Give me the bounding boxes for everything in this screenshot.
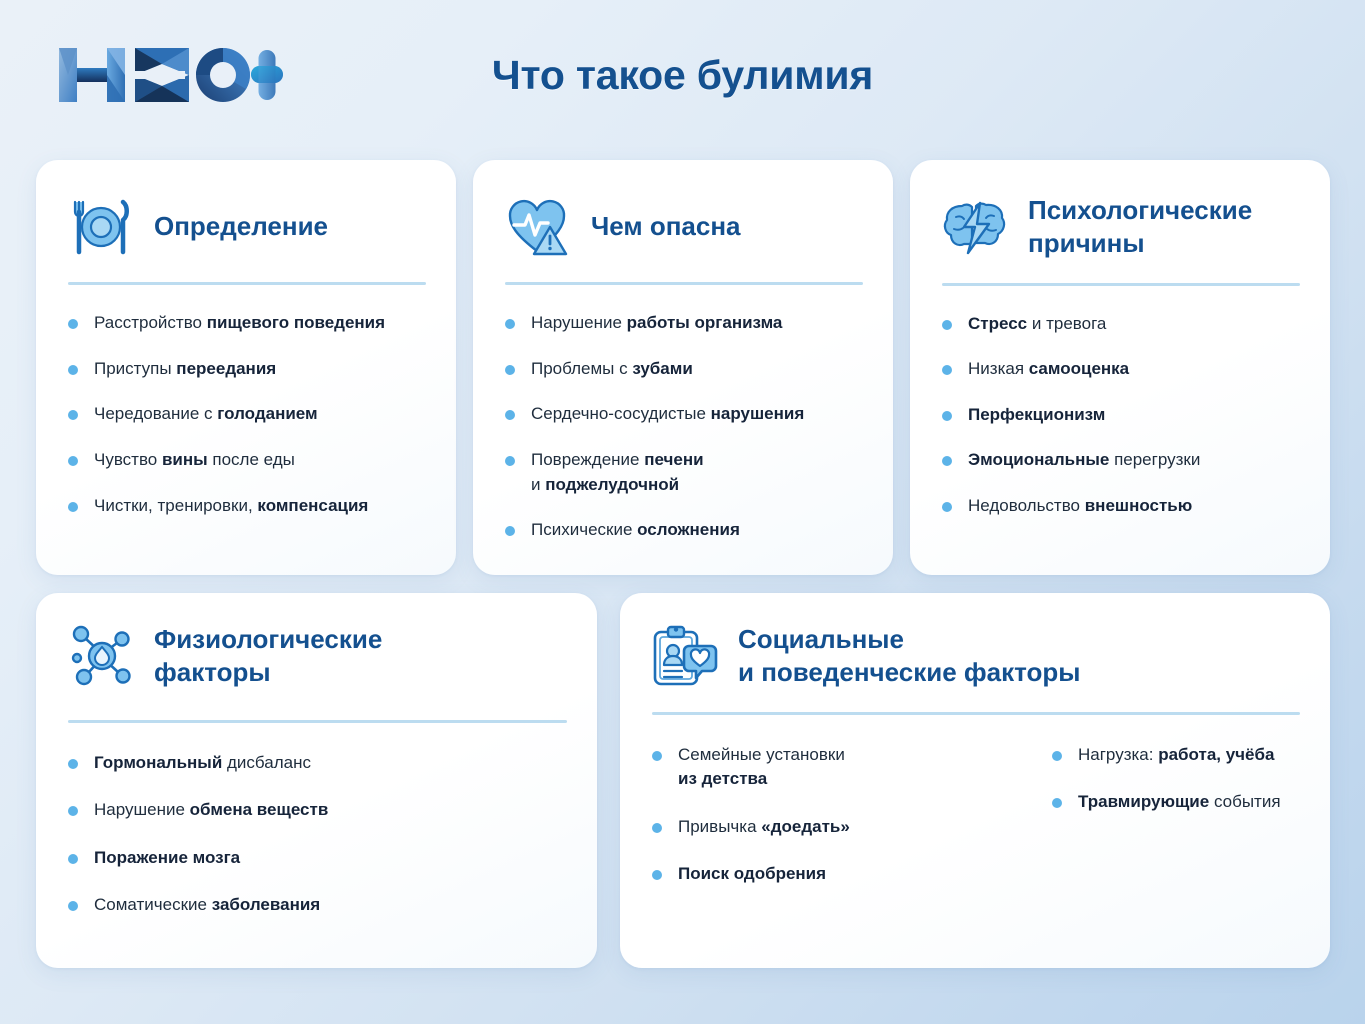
card-header: Психологическиепричины: [910, 160, 1330, 261]
bullet-list-left: Семейные установкииз детстваПривычка «до…: [652, 743, 1022, 911]
emphasis: нарушения: [711, 404, 805, 423]
card-definition: Определение Расстройство пищевого поведе…: [36, 160, 456, 575]
bullet-list: Стресс и тревогаНизкая самооценкаПерфекц…: [910, 286, 1330, 519]
card-header: Физиологическиефакторы: [36, 593, 597, 690]
bullet-list-right: Нагрузка: работа, учёбаТравмирующие собы…: [1052, 743, 1322, 911]
list-item: Нарушение обмена веществ: [68, 798, 571, 823]
page-header: Что такое булимия: [0, 0, 1365, 140]
emphasis: обмена веществ: [190, 800, 329, 819]
list-item: Психические осложнения: [505, 518, 867, 543]
list-item: Чувство вины после еды: [68, 448, 430, 473]
emphasis: внешностью: [1085, 496, 1193, 515]
plate-fork-knife-icon: [68, 194, 134, 260]
emphasis: голоданием: [217, 404, 317, 423]
list-item: Травмирующие события: [1052, 790, 1322, 815]
heart-pulse-warning-icon: [505, 194, 571, 260]
emphasis: вины: [162, 450, 208, 469]
emphasis: поджелудочной: [545, 475, 679, 494]
emphasis: Гормональный: [94, 753, 222, 772]
card-social: Социальныеи поведенческие факторы Семейн…: [620, 593, 1330, 968]
card-header: Чем опасна: [473, 160, 893, 260]
emphasis: заболевания: [212, 895, 321, 914]
card-title: Социальныеи поведенческие факторы: [738, 623, 1081, 690]
card-title: Физиологическиефакторы: [154, 623, 382, 690]
list-item: Перфекционизм: [942, 403, 1304, 428]
card-psych: Психологическиепричины Стресс и тревогаН…: [910, 160, 1330, 575]
list-item: Проблемы с зубами: [505, 357, 867, 382]
emphasis: зубами: [632, 359, 692, 378]
bullet-list: Расстройство пищевого поведенияПриступы …: [36, 285, 456, 518]
emphasis: пищевого поведения: [207, 313, 385, 332]
bullet-columns: Семейные установкииз детстваПривычка «до…: [620, 715, 1330, 911]
list-item: Чередование с голоданием: [68, 402, 430, 427]
emphasis: работа, учёба: [1158, 745, 1274, 764]
list-item: Низкая самооценка: [942, 357, 1304, 382]
list-item: Повреждение печении поджелудочной: [505, 448, 867, 497]
card-header: Социальныеи поведенческие факторы: [620, 593, 1330, 690]
list-item: Соматические заболевания: [68, 893, 571, 918]
bullet-list: Нарушение работы организмаПроблемы с зуб…: [473, 285, 893, 543]
emphasis: Поиск одобрения: [678, 864, 826, 883]
emphasis: Перфекционизм: [968, 405, 1105, 424]
card-danger: Чем опасна Нарушение работы организмаПро…: [473, 160, 893, 575]
emphasis: осложнения: [637, 520, 740, 539]
emphasis: Эмоциональные: [968, 450, 1109, 469]
brain-lightning-icon: [942, 194, 1008, 260]
list-item: Приступы переедания: [68, 357, 430, 382]
list-item: Семейные установкииз детства: [652, 743, 1022, 792]
list-item: Гормональный дисбаланс: [68, 751, 571, 776]
emphasis: Стресс: [968, 314, 1027, 333]
list-item: Привычка «доедать»: [652, 815, 1022, 840]
list-item: Поражение мозга: [68, 846, 571, 871]
emphasis: Травмирующие: [1078, 792, 1209, 811]
card-title: Определение: [154, 210, 328, 243]
molecule-droplet-icon: [68, 623, 134, 689]
card-physio: Физиологическиефакторы Гормональный дисб…: [36, 593, 597, 968]
page-title: Что такое булимия: [0, 52, 1365, 99]
bullet-list: Гормональный дисбалансНарушение обмена в…: [36, 723, 597, 919]
emphasis: «доедать»: [761, 817, 850, 836]
emphasis: самооценка: [1029, 359, 1129, 378]
list-item: Эмоциональные перегрузки: [942, 448, 1304, 473]
list-item: Стресс и тревога: [942, 312, 1304, 337]
emphasis: Поражение мозга: [94, 848, 240, 867]
emphasis: компенсация: [257, 496, 368, 515]
card-title: Психологическиепричины: [1028, 194, 1252, 261]
card-header: Определение: [36, 160, 456, 260]
list-item: Поиск одобрения: [652, 862, 1022, 887]
card-title: Чем опасна: [591, 210, 741, 243]
emphasis: из детства: [678, 769, 767, 788]
emphasis: работы организма: [627, 313, 783, 332]
list-item: Нагрузка: работа, учёба: [1052, 743, 1322, 768]
list-item: Недовольство внешностью: [942, 494, 1304, 519]
emphasis: переедания: [176, 359, 276, 378]
list-item: Сердечно-сосудистые нарушения: [505, 402, 867, 427]
list-item: Нарушение работы организма: [505, 311, 867, 336]
list-item: Чистки, тренировки, компенсация: [68, 494, 430, 519]
list-item: Расстройство пищевого поведения: [68, 311, 430, 336]
emphasis: печени: [644, 450, 703, 469]
clipboard-person-heart-icon: [652, 623, 718, 689]
